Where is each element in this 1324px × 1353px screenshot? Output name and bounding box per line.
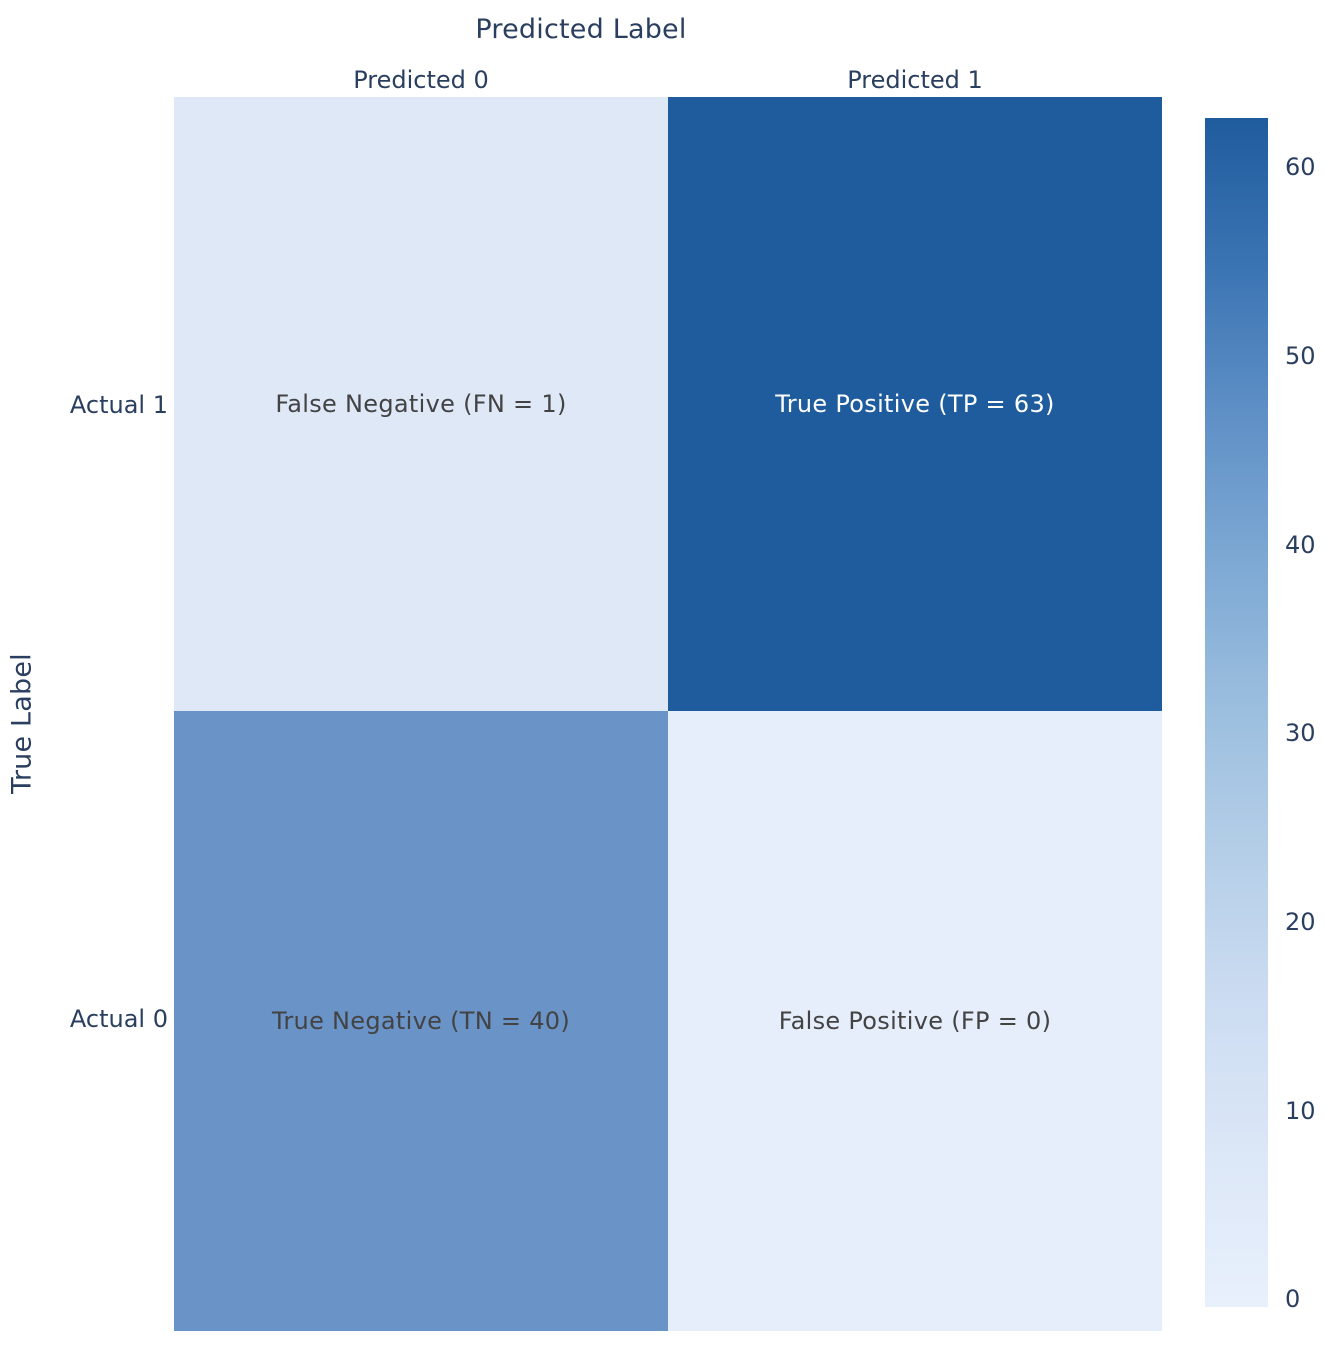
y-axis-title: True Label bbox=[7, 639, 38, 809]
colorbar-tick-labels: 60 50 40 30 20 10 0 bbox=[1268, 118, 1324, 1307]
heatmap-cell-false-negative[interactable]: False Negative (FN = 1) bbox=[174, 97, 668, 711]
heatmap-cell-true-positive[interactable]: True Positive (TP = 63) bbox=[668, 97, 1162, 711]
colorbar-tick-30: 30 bbox=[1285, 719, 1316, 747]
colorbar-tick-40: 40 bbox=[1285, 531, 1316, 559]
colorbar-tick-10: 10 bbox=[1285, 1097, 1316, 1125]
colorbar-tick-50: 50 bbox=[1285, 342, 1316, 370]
confusion-matrix-figure: Predicted Label True Label Predicted 0 P… bbox=[0, 0, 1324, 1353]
colorbar-tick-0: 0 bbox=[1285, 1285, 1300, 1313]
x-axis-title: Predicted Label bbox=[0, 14, 1162, 45]
y-tick-label-actual-0: Actual 0 bbox=[70, 1005, 168, 1033]
x-tick-label-predicted-0: Predicted 0 bbox=[174, 66, 668, 94]
heatmap-cell-label-true-positive: True Positive (TP = 63) bbox=[775, 390, 1054, 418]
colorbar: 60 50 40 30 20 10 0 bbox=[1205, 118, 1268, 1307]
x-tick-label-predicted-1: Predicted 1 bbox=[668, 66, 1162, 94]
heatmap-cell-false-positive[interactable]: False Positive (FP = 0) bbox=[668, 711, 1162, 1331]
heatmap-cell-true-negative[interactable]: True Negative (TN = 40) bbox=[174, 711, 668, 1331]
y-tick-label-actual-1: Actual 1 bbox=[70, 391, 168, 419]
colorbar-tick-20: 20 bbox=[1285, 908, 1316, 936]
heatmap-cell-label-false-negative: False Negative (FN = 1) bbox=[275, 390, 566, 418]
heatmap-cell-label-true-negative: True Negative (TN = 40) bbox=[272, 1007, 570, 1035]
heatmap-grid: False Negative (FN = 1) True Positive (T… bbox=[174, 97, 1162, 1331]
colorbar-gradient bbox=[1205, 118, 1268, 1307]
colorbar-tick-60: 60 bbox=[1285, 153, 1316, 181]
heatmap-cell-label-false-positive: False Positive (FP = 0) bbox=[779, 1007, 1052, 1035]
